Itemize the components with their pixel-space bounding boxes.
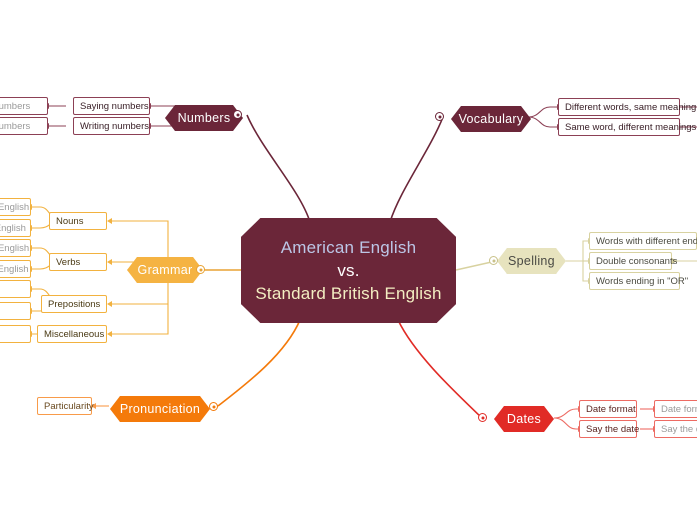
central-line-2: vs.: [337, 259, 359, 282]
node-particularity[interactable]: Particularity: [37, 397, 92, 415]
central-line-3: Standard British English: [255, 282, 441, 305]
central-line-1: American English: [281, 236, 416, 259]
node-verbs-child-1[interactable]: can English: [0, 239, 31, 257]
node-saying-numbers-child[interactable]: ing numbers: [0, 97, 48, 115]
node-verbs-child-2[interactable]: tish English: [0, 260, 31, 278]
node-date-format[interactable]: Date format: [579, 400, 637, 418]
node-say-the-date-child[interactable]: Say the d: [654, 420, 697, 438]
collapse-toggle-dates[interactable]: [478, 413, 487, 422]
branch-node-spelling[interactable]: Spelling: [497, 248, 566, 274]
node-prepositions[interactable]: Prepositions: [41, 295, 107, 313]
node-nouns[interactable]: Nouns: [49, 212, 107, 230]
node-writing-numbers[interactable]: Writing numbers: [73, 117, 150, 135]
node-same-word-different-meanings[interactable]: Same word, different meanings: [558, 118, 680, 136]
node-date-format-child[interactable]: Date form: [654, 400, 697, 418]
node-different-words-same-meaning[interactable]: Different words, same meaning: [558, 98, 680, 116]
node-words-ending-in-or[interactable]: Words ending in "OR": [589, 272, 680, 290]
node-words-with-different-endings[interactable]: Words with different endings: [589, 232, 697, 250]
branch-node-pronunciation[interactable]: Pronunciation: [110, 396, 210, 422]
link-central-pronunciation: [218, 320, 300, 406]
node-saying-numbers[interactable]: Saying numbers: [73, 97, 150, 115]
node-miscellaneous[interactable]: Miscellaneous: [37, 325, 107, 343]
collapse-toggle-pronunciation[interactable]: [209, 402, 218, 411]
link-central-numbers: [247, 115, 310, 222]
mindmap-canvas: American English vs. Standard British En…: [0, 0, 697, 520]
collapse-toggle-grammar[interactable]: [196, 265, 205, 274]
branch-node-vocabulary[interactable]: Vocabulary: [451, 106, 531, 132]
node-double-consonants[interactable]: Double consonants: [589, 252, 672, 270]
node-prepositions-child-2[interactable]: glish: [0, 302, 31, 320]
branch-node-grammar[interactable]: Grammar: [127, 257, 203, 283]
branch-node-numbers[interactable]: Numbers: [165, 105, 243, 131]
node-writing-numbers-child[interactable]: ing numbers: [0, 117, 48, 135]
node-prepositions-child-1[interactable]: glish: [0, 280, 31, 298]
collapse-toggle-numbers[interactable]: [233, 110, 242, 119]
link-central-dates: [398, 320, 482, 418]
branch-node-dates[interactable]: Dates: [494, 406, 554, 432]
central-topic-node[interactable]: American English vs. Standard British En…: [241, 218, 456, 323]
link-central-vocabulary: [390, 117, 443, 222]
node-nouns-child-1[interactable]: can English: [0, 198, 31, 216]
node-say-the-date[interactable]: Say the date: [579, 420, 637, 438]
node-nouns-child-2[interactable]: ish English: [0, 219, 31, 237]
node-miscellaneous-child-1[interactable]: rity: [0, 325, 31, 343]
collapse-toggle-vocabulary[interactable]: [435, 112, 444, 121]
collapse-toggle-spelling[interactable]: [489, 256, 498, 265]
node-verbs[interactable]: Verbs: [49, 253, 107, 271]
